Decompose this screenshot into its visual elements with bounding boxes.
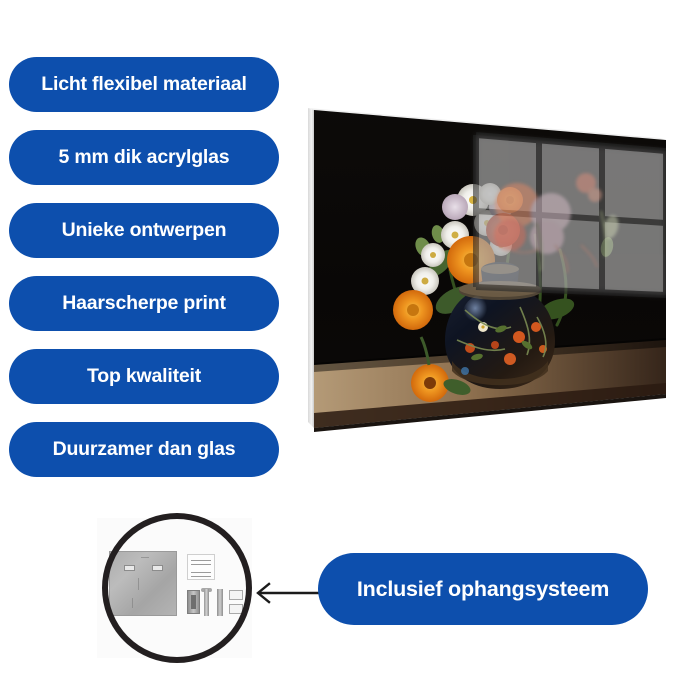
artwork-panel[interactable] bbox=[305, 95, 675, 445]
feature-pill-duurzamer-dan-glas[interactable]: Duurzamer dan glas bbox=[9, 422, 279, 477]
feature-pill-list: Licht flexibel materiaal 5 mm dik acrylg… bbox=[9, 57, 279, 495]
feature-pill-label: Haarscherpe print bbox=[62, 294, 226, 314]
feature-pill-top-kwaliteit[interactable]: Top kwaliteit bbox=[9, 349, 279, 404]
feature-pill-label: 5 mm dik acrylglas bbox=[59, 148, 230, 168]
feature-pill-label: Top kwaliteit bbox=[87, 367, 201, 387]
feature-pill-unieke-ontwerpen[interactable]: Unieke ontwerpen bbox=[9, 203, 279, 258]
panel-edge bbox=[308, 108, 314, 428]
hanging-system-badge[interactable]: Inclusief ophangsysteem bbox=[318, 553, 648, 625]
feature-pill-label: Licht flexibel materiaal bbox=[41, 75, 246, 95]
feature-pill-label: Unieke ontwerpen bbox=[62, 221, 227, 241]
artwork-image bbox=[305, 95, 675, 445]
reflection-haze bbox=[476, 135, 666, 295]
arrow-left-icon bbox=[258, 584, 327, 602]
circle-outline-icon bbox=[102, 513, 252, 663]
feature-pill-label: Duurzamer dan glas bbox=[53, 440, 236, 460]
feature-pill-haarscherpe-print[interactable]: Haarscherpe print bbox=[9, 276, 279, 331]
feature-pill-5-mm-dik-acrylglas[interactable]: 5 mm dik acrylglas bbox=[9, 130, 279, 185]
hanging-system-label: Inclusief ophangsysteem bbox=[357, 577, 609, 602]
mounting-kit-circle bbox=[102, 513, 252, 663]
feature-pill-licht-flexibel-materiaal[interactable]: Licht flexibel materiaal bbox=[9, 57, 279, 112]
